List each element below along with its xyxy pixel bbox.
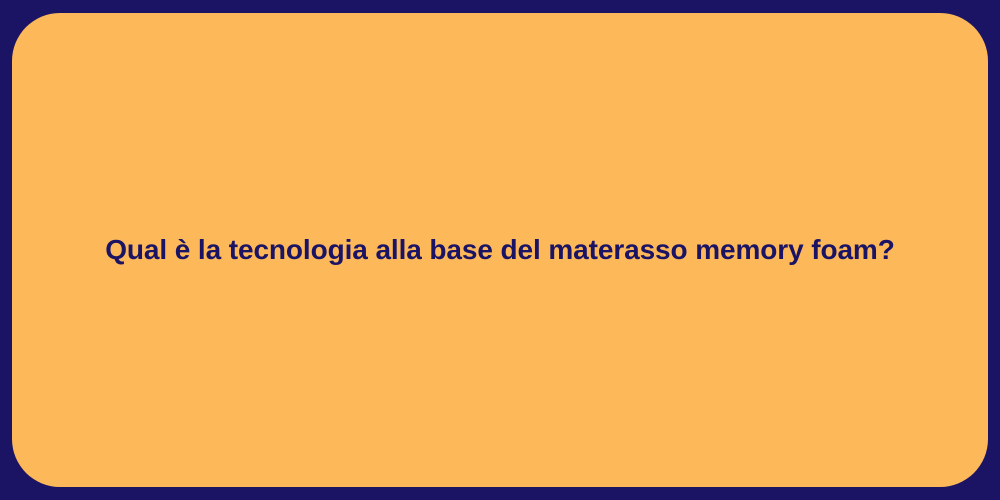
question-text: Qual è la tecnologia alla base del mater… — [105, 231, 894, 269]
question-card-frame: Qual è la tecnologia alla base del mater… — [0, 0, 1000, 500]
question-card-panel: Qual è la tecnologia alla base del mater… — [12, 13, 988, 487]
